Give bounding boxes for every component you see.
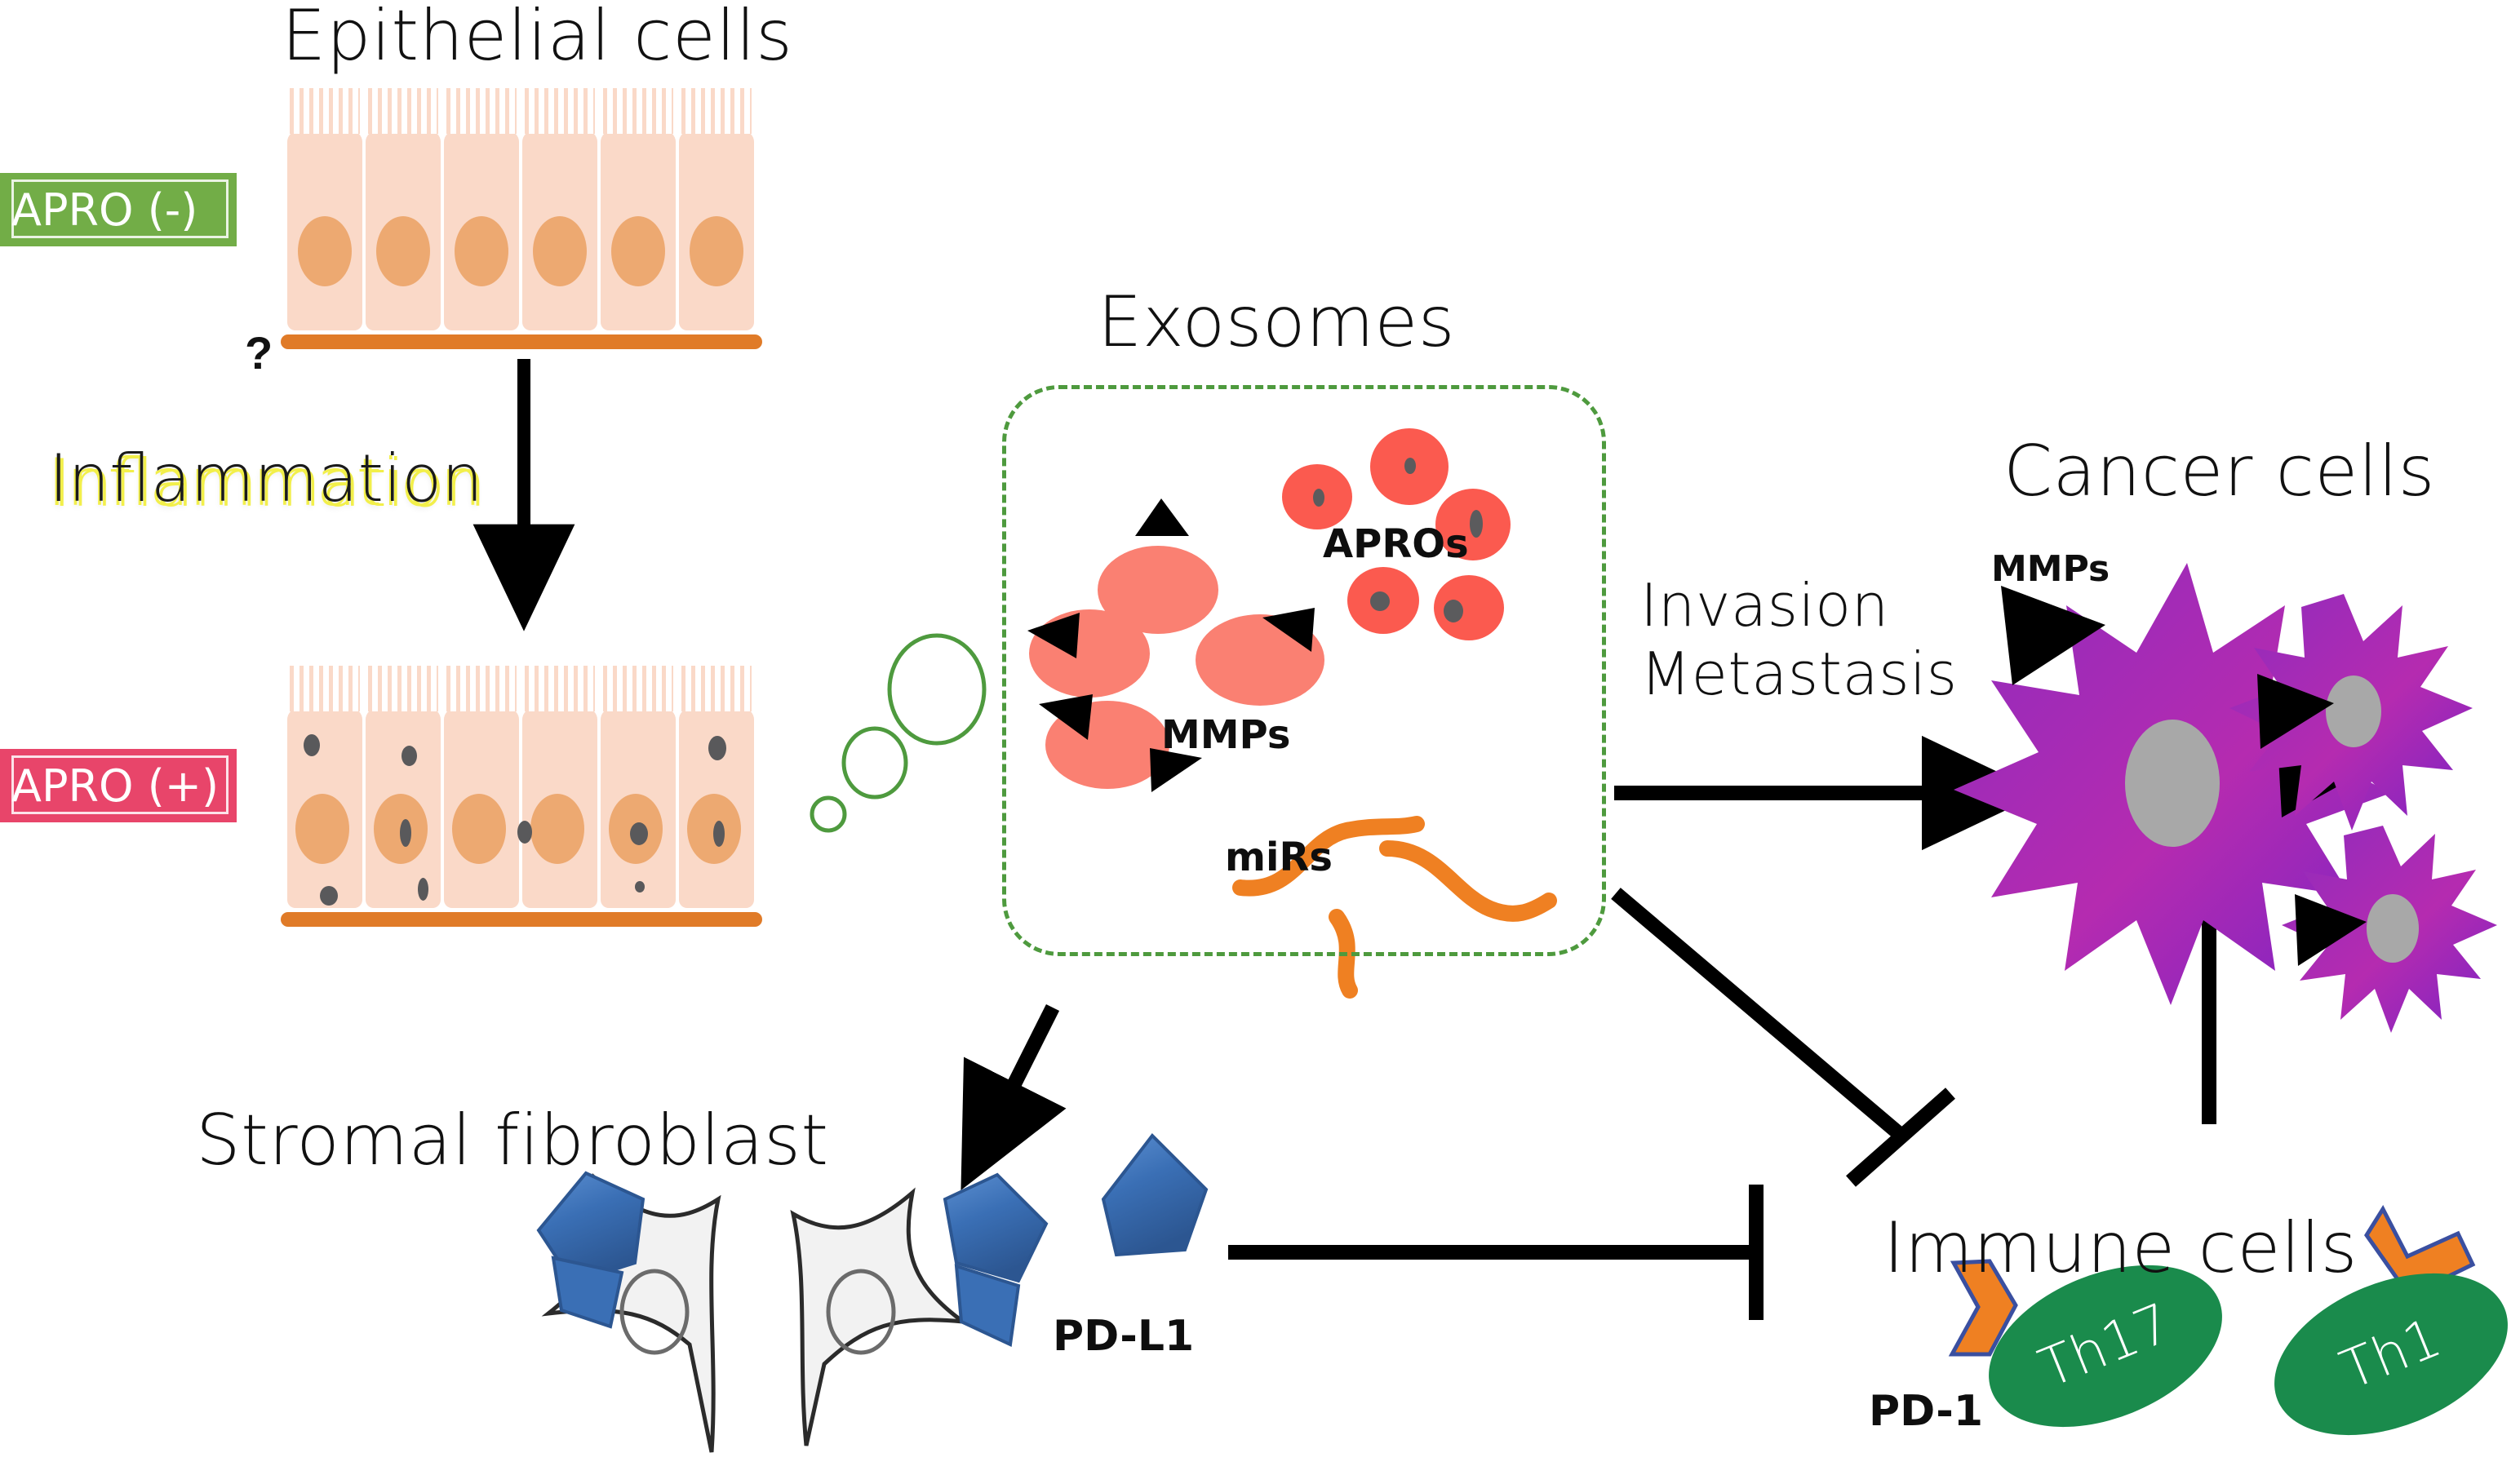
- exosome-container: MMPs APROs miRs: [1002, 385, 1606, 956]
- apro-vesicle: [1434, 575, 1504, 640]
- epithelium-normal: [287, 90, 777, 334]
- heading-cancer-cells: Cancer cells: [2003, 431, 2435, 512]
- cilia: [368, 666, 438, 711]
- epithelial-cell: [366, 708, 441, 908]
- label-invasion: Invasion: [1640, 571, 1958, 640]
- epithelium-inflamed: [287, 667, 777, 912]
- apro-protein: [400, 819, 411, 847]
- apro-protein: [635, 881, 645, 893]
- apro-vesicle: [1282, 464, 1352, 529]
- apro-protein: [713, 821, 725, 847]
- pd-l1-marker-free: [1103, 1136, 1206, 1255]
- cell-nucleus: [611, 216, 665, 286]
- apro-protein: [418, 878, 428, 901]
- cilia: [603, 666, 673, 711]
- epithelial-cell: [444, 708, 519, 908]
- apro-vesicle-nucleus: [1404, 458, 1416, 474]
- epithelial-cell: [679, 131, 754, 330]
- apro-vesicle-nucleus: [1444, 600, 1463, 622]
- epithelial-cell: [522, 708, 597, 908]
- cilia: [681, 666, 752, 711]
- epithelial-cell: [601, 131, 676, 330]
- heading-immune-cells: Immune cells: [1883, 1207, 2358, 1289]
- cell-nucleus: [530, 794, 584, 864]
- cell-nucleus: [295, 794, 349, 864]
- label-cancer-mmps: MMPs: [1991, 548, 2110, 590]
- cell-nucleus: [452, 794, 506, 864]
- cell-nucleus: [455, 216, 508, 286]
- cilia: [446, 88, 517, 134]
- label-apros: APROs: [1323, 521, 1469, 567]
- label-pd-1: PD-1: [1869, 1387, 1983, 1436]
- inhibition-exosome-immune: [1616, 893, 1950, 1181]
- label-mmps: MMPs: [1161, 712, 1290, 758]
- cell-nucleus: [690, 216, 743, 286]
- cell-nucleus: [298, 216, 352, 286]
- apro-vesicle-nucleus: [1470, 510, 1483, 538]
- apro-protein: [402, 746, 417, 766]
- inhibition-pdl1-immune: [1228, 1185, 1759, 1320]
- label-inflammation: Inflammation: [49, 441, 483, 516]
- apro-protein: [304, 734, 320, 756]
- label-question-mark: ?: [245, 326, 273, 379]
- apro-protein: [517, 821, 532, 844]
- apro-vesicle-nucleus: [1313, 489, 1324, 507]
- epithelial-cell: [522, 131, 597, 330]
- apro-vesicle: [1370, 428, 1449, 505]
- badge-apro-positive-label: APRO (+): [11, 760, 219, 812]
- label-mirs: miRs: [1225, 835, 1333, 880]
- arrow-to-fibroblast: [973, 1008, 1053, 1167]
- cell-nucleus: [376, 216, 430, 286]
- label-metastasis: Metastasis: [1640, 640, 1958, 708]
- cilia: [290, 666, 360, 711]
- cilia: [446, 666, 517, 711]
- heading-exosomes: Exosomes: [1098, 281, 1455, 363]
- cilia: [368, 88, 438, 134]
- cilia: [290, 88, 360, 134]
- budding-vesicles: [812, 636, 984, 831]
- epithelial-cell: [444, 131, 519, 330]
- epithelial-cell: [287, 131, 362, 330]
- label-pd-l1: PD-L1: [1053, 1312, 1194, 1361]
- basement-membrane: [281, 912, 762, 927]
- badge-apro-negative[interactable]: APRO (-): [0, 173, 237, 246]
- apro-protein: [708, 736, 726, 760]
- badge-apro-negative-label: APRO (-): [11, 184, 197, 236]
- cilia: [681, 88, 752, 134]
- basement-membrane: [281, 334, 762, 349]
- epithelial-cell: [679, 708, 754, 908]
- diagram-canvas: Th17 Th1 Epithelial cells Exosomes Cance…: [0, 0, 2520, 1475]
- apro-vesicle: [1347, 567, 1419, 634]
- epithelial-cell: [366, 131, 441, 330]
- fibroblast-right: [793, 1193, 963, 1446]
- badge-apro-positive[interactable]: APRO (+): [0, 749, 237, 822]
- apro-protein: [630, 822, 648, 845]
- label-invasion-metastasis: Invasion Metastasis: [1640, 571, 1958, 708]
- cancer-nucleus: [2125, 720, 2220, 847]
- epithelial-cell: [601, 708, 676, 908]
- cilia: [603, 88, 673, 134]
- cancer-nucleus: [2367, 894, 2419, 963]
- apro-vesicle-nucleus: [1370, 591, 1390, 611]
- heading-stromal-fibroblast: Stromal fibroblast: [196, 1100, 829, 1181]
- epithelial-cell: [287, 708, 362, 908]
- cancer-nucleus: [2326, 675, 2381, 747]
- pd-l1-marker-right: [945, 1175, 1046, 1344]
- cilia: [525, 88, 595, 134]
- cell-nucleus: [533, 216, 587, 286]
- cilia: [525, 666, 595, 711]
- heading-epithelial-cells: Epithelial cells: [282, 0, 792, 77]
- apro-protein: [320, 886, 338, 906]
